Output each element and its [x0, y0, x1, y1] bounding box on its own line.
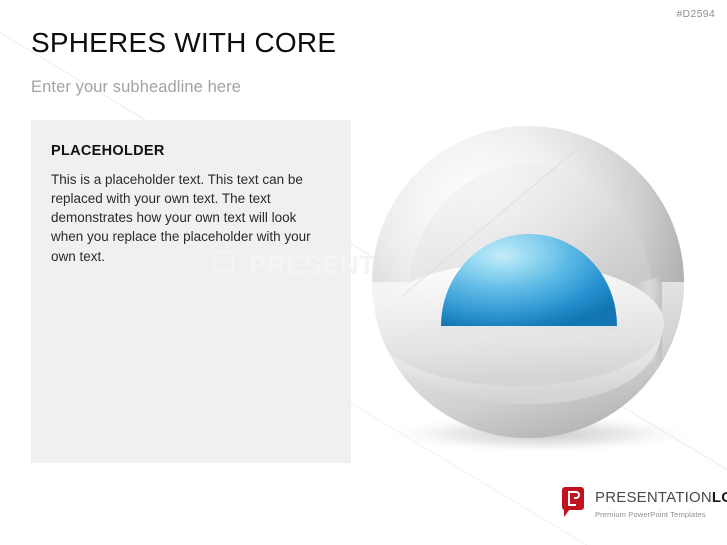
logo-tagline: Premium PowerPoint Templates [595, 510, 727, 519]
slide-canvas: #D2594 SPHERES WITH CORE Enter your subh… [0, 0, 727, 545]
presentationload-logo[interactable]: PRESENTATIONLOAD® Premium PowerPoint Tem… [562, 487, 727, 519]
logo-wordmark: PRESENTATIONLOAD® [595, 489, 727, 506]
speech-bubble-icon [562, 487, 587, 517]
logo-text-group: PRESENTATIONLOAD® Premium PowerPoint Tem… [595, 487, 727, 519]
page-subtitle: Enter your subheadline here [31, 78, 241, 97]
placeholder-panel[interactable]: PLACEHOLDER This is a placeholder text. … [31, 120, 351, 463]
sphere-svg [362, 126, 702, 456]
logo-word-primary: PRESENTATION [595, 489, 712, 506]
template-id-label: #D2594 [676, 8, 715, 20]
page-title: SPHERES WITH CORE [31, 28, 336, 59]
placeholder-heading: PLACEHOLDER [51, 143, 165, 159]
cutaway-sphere-graphic[interactable] [362, 126, 702, 456]
placeholder-body-text: This is a placeholder text. This text ca… [51, 170, 323, 266]
logo-word-secondary: LOAD [712, 489, 727, 506]
